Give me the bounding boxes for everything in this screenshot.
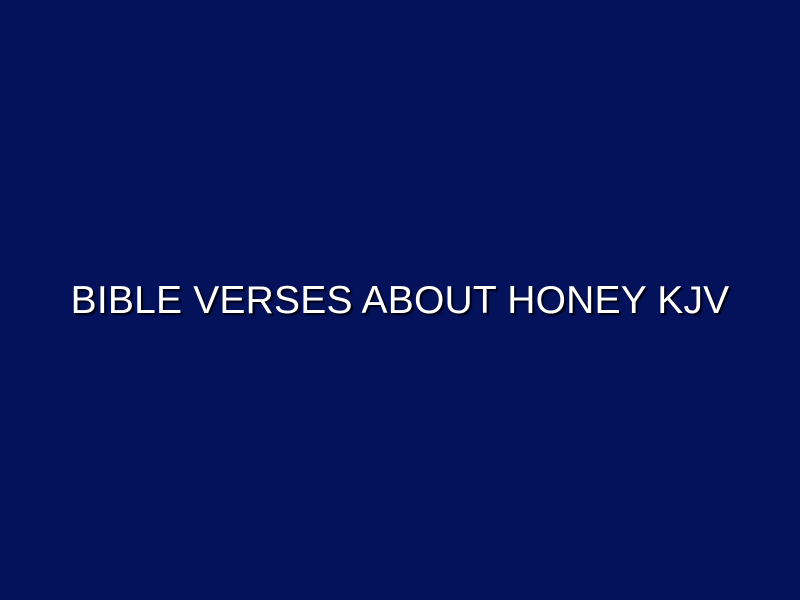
page-title: BIBLE VERSES ABOUT HONEY KJV	[40, 281, 760, 320]
title-block: BIBLE VERSES ABOUT HONEY KJV	[0, 281, 800, 320]
banner-card: BIBLE VERSES ABOUT HONEY KJV	[0, 0, 800, 600]
